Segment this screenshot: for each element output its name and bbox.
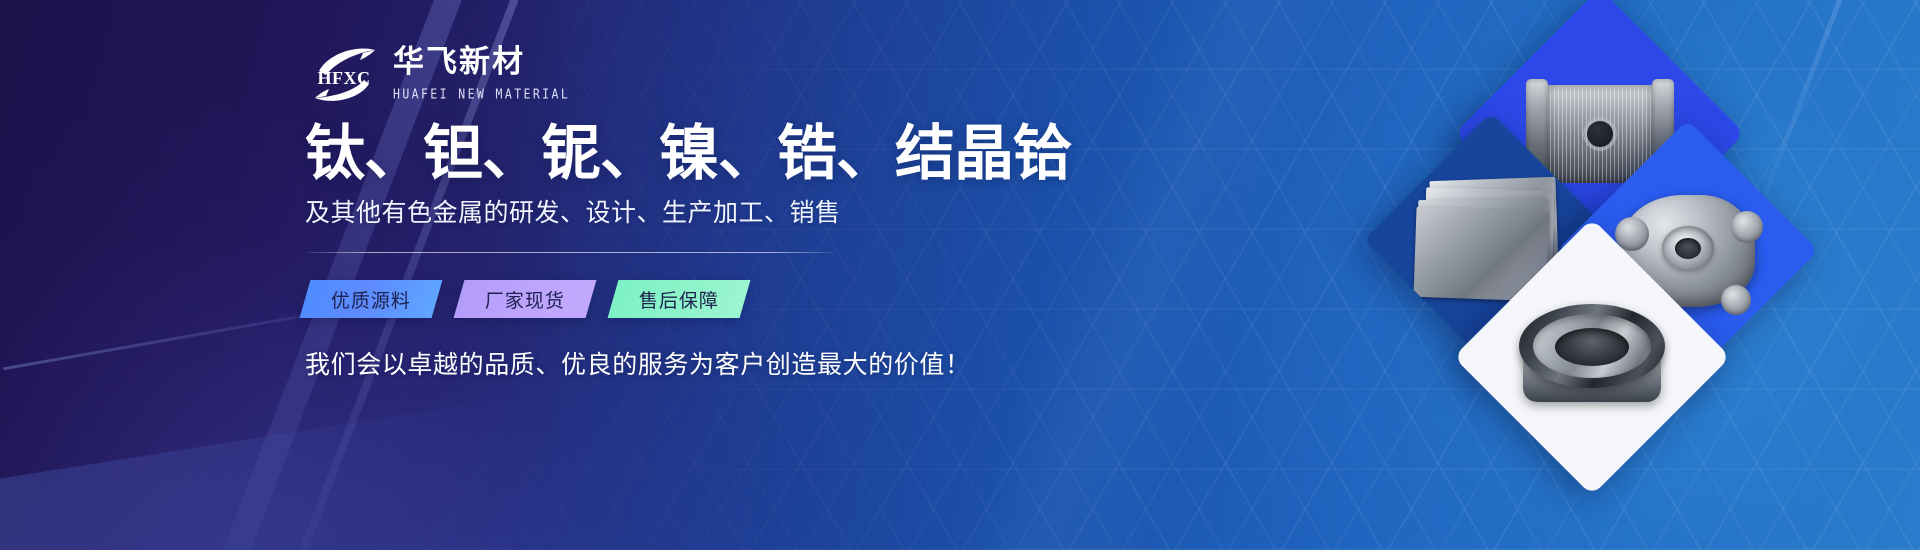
badge-factory-stock[interactable]: 厂家现货	[454, 280, 597, 318]
divider-rule	[308, 252, 833, 253]
hero-content: HFXC 华飞新材 HUAFEI NEW MATERIAL 钛、钽、铌、镍、锆、…	[305, 0, 1025, 550]
badge-after-sales[interactable]: 售后保障	[608, 280, 751, 318]
hero-headline: 钛、钽、铌、镍、锆、结晶铪	[305, 120, 1072, 187]
hero-banner: HFXC 华飞新材 HUAFEI NEW MATERIAL 钛、钽、铌、镍、锆、…	[0, 0, 1920, 550]
hero-subtitle: 及其他有色金属的研发、设计、生产加工、销售	[305, 193, 841, 229]
badge-label: 优质源料	[331, 286, 411, 313]
brand-logo[interactable]: HFXC 华飞新材 HUAFEI NEW MATERIAL	[305, 44, 570, 104]
product-gallery	[1120, 0, 1920, 550]
badge-label: 厂家现货	[485, 286, 565, 313]
brand-name-cn: 华飞新材	[393, 46, 570, 79]
feature-badges: 优质源料 厂家现货 售后保障	[305, 280, 745, 318]
hfxc-swoosh-icon: HFXC	[305, 44, 383, 104]
svg-text:HFXC: HFXC	[318, 68, 371, 88]
badge-quality-material[interactable]: 优质源料	[300, 280, 443, 318]
hero-tagline: 我们会以卓越的品质、优良的服务为客户创造最大的价值！	[305, 345, 971, 381]
brand-name-en: HUAFEI NEW MATERIAL	[393, 86, 570, 102]
badge-label: 售后保障	[639, 286, 719, 313]
metal-ring-image	[1517, 298, 1667, 416]
